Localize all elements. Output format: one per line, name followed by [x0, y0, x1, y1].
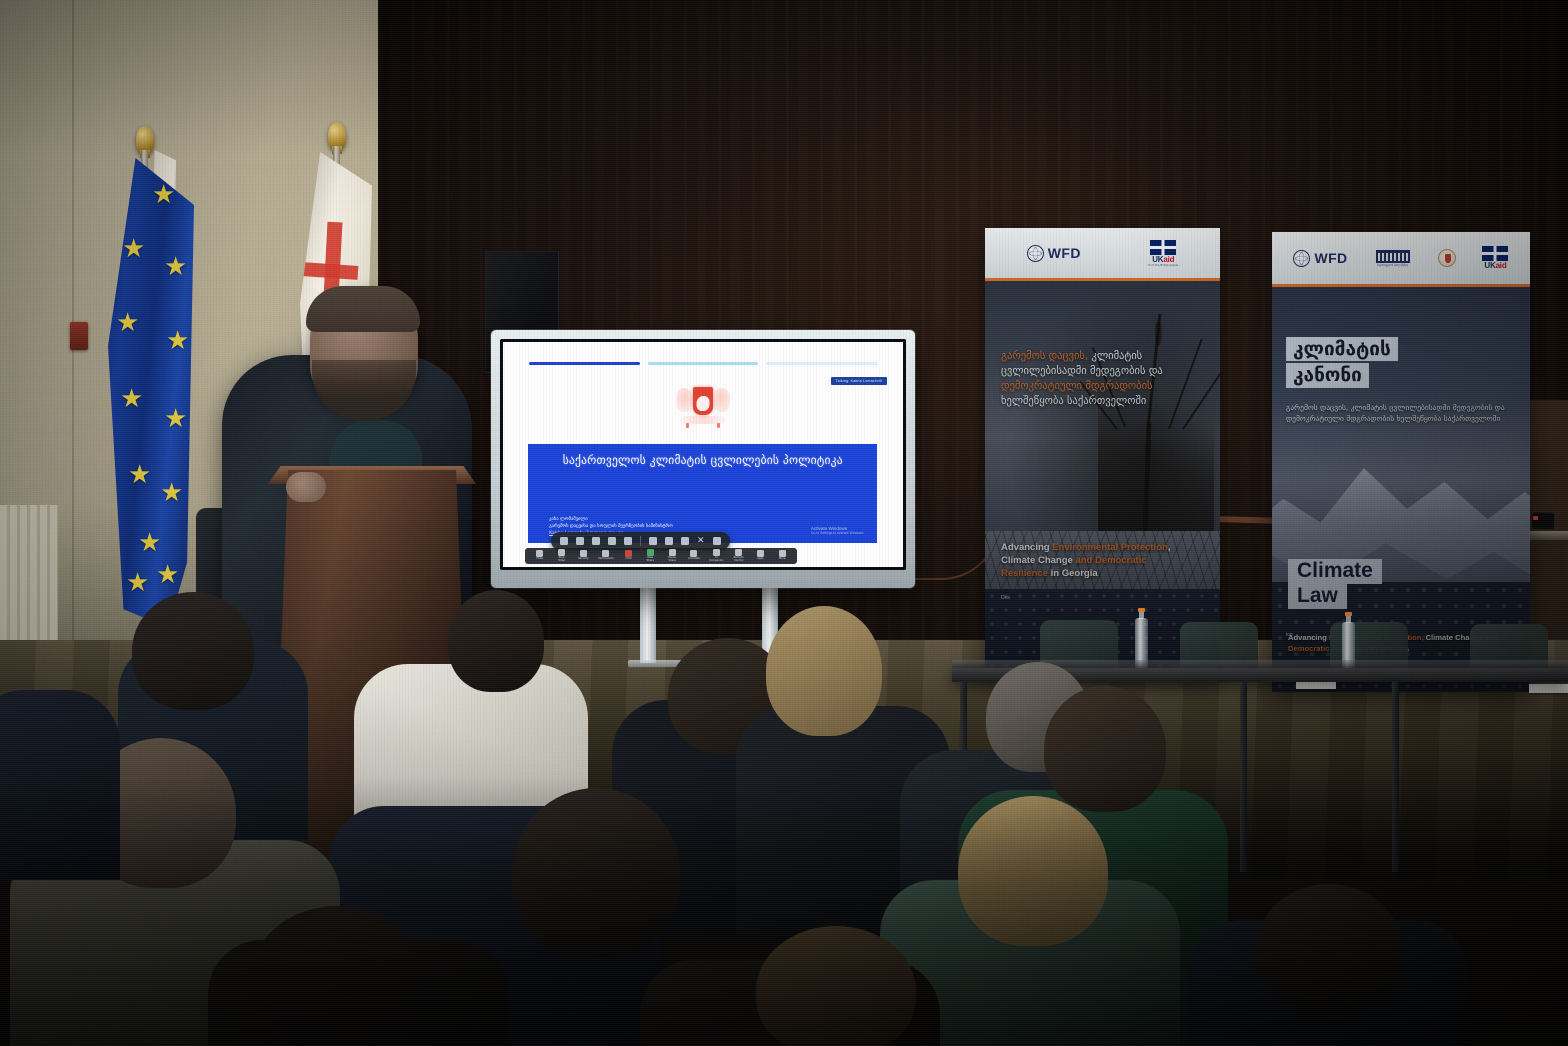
ukaid-wordmark: UKaid	[1148, 255, 1178, 264]
zoom-button-stop-video[interactable]: Stop Video	[555, 549, 569, 563]
coa-supporter-right	[712, 388, 730, 412]
pencil-icon	[690, 550, 697, 557]
presentation-slide: Talking: Kakha Lomashvili საქართველოს კლ…	[503, 342, 903, 567]
shield-icon	[580, 550, 587, 557]
coa-shield	[693, 387, 713, 415]
roll-up-banner-wfd: WFD UKaid from the British people გარემო…	[985, 228, 1220, 673]
display-stand-leg-left	[640, 588, 656, 663]
wfd-wordmark: WFD	[1314, 250, 1347, 266]
audience-head	[252, 906, 422, 1046]
audience-head	[132, 592, 254, 710]
ukaid-logo: UKaid from the British people	[1148, 240, 1178, 267]
progress-segment-3	[766, 362, 877, 365]
banner-headline-ka-part2: კლიმატის	[1092, 350, 1143, 362]
speaker-hand	[286, 472, 326, 502]
flag-georgia-cross-horizontal	[302, 262, 359, 280]
zoom-button-annotate[interactable]: Annotate	[687, 550, 701, 561]
slide-title: საქართველოს კლიმატის ცვლილების პოლიტიკა	[528, 453, 877, 467]
wfd-logo: WFD	[1027, 245, 1081, 262]
banner-footer-text: ion	[1286, 632, 1293, 638]
microphone-icon	[536, 550, 543, 557]
zoom-button-pause-share[interactable]: Pause Share	[665, 549, 679, 563]
slide-title-band: საქართველოს კლიმატის ცვლილების პოლიტიკა …	[528, 444, 877, 543]
audience-head	[512, 788, 680, 958]
coa-saint-george	[697, 396, 710, 411]
audience-head	[1256, 884, 1402, 1014]
zoom-button-chat[interactable]: Chat	[622, 550, 636, 561]
audience-head	[958, 796, 1108, 946]
audience-head	[766, 606, 882, 736]
banner-artwork-drought: გარემოს დაცვის, კლიმატის ცვლილებისადმი მ…	[985, 281, 1220, 673]
banner-headline-ka-part8: საქართველოში	[1067, 395, 1146, 407]
banner-footer-text: Des	[1001, 595, 1010, 601]
ukaid-strapline: from the British people	[1148, 264, 1178, 267]
banner-headline-ka-accent3: მდგრადობის	[1085, 380, 1152, 392]
zoom-button-ai-companion[interactable]: AI Companion	[709, 549, 724, 563]
audience-head	[1044, 686, 1166, 812]
audience-head	[756, 926, 916, 1046]
slide-progress-bars	[529, 362, 877, 365]
fire-alarm-icon	[70, 322, 88, 350]
ukaid-wordmark: UKaid	[1482, 261, 1508, 270]
dead-tree-illustration	[1098, 303, 1214, 553]
activation-line-2: Go to Settings to activate Windows	[811, 531, 864, 535]
zoom-button-participants[interactable]: Participants	[598, 550, 613, 561]
annotate-icon[interactable]	[624, 537, 632, 545]
banner-title-en: Climate Law	[1288, 559, 1382, 609]
wfd-globe-icon	[1027, 245, 1044, 262]
presenter-organisation: გარემოს დაცვისა და სოფლის მეურნეობის სამ…	[549, 523, 673, 530]
bottle-cap	[1138, 608, 1145, 612]
parliament-building-icon	[1376, 250, 1410, 263]
stop-share-icon[interactable]	[576, 537, 584, 545]
name-plate	[1529, 684, 1568, 693]
banner-title-en-line1: Climate	[1288, 559, 1382, 584]
banner-headline-ka-accent1: გარემოს დაცვის,	[1001, 350, 1092, 362]
banner-headline-ka-part3: ცვლილებისადმი მედეგობის	[1001, 365, 1145, 377]
close-icon[interactable]: ✕	[697, 537, 705, 545]
zoom-button-apps[interactable]: Apps	[754, 550, 768, 561]
banner-headline-ka-part4: და	[1149, 365, 1163, 377]
banner-logo-strip: WFD საქართველოს პარლამენტი UKaid	[1272, 232, 1530, 284]
wfd-logo: WFD	[1293, 250, 1347, 267]
banner-logo-strip: WFD UKaid from the British people	[985, 228, 1220, 278]
banner-title-en-line2: Law	[1288, 584, 1347, 609]
windows-activation-watermark: Activate Windows Go to Settings to activ…	[811, 526, 864, 535]
zoom-button-remote-control[interactable]: Remote Control	[732, 549, 746, 563]
banner-title-ka-line2: კანონი	[1286, 363, 1369, 387]
zoom-button-new-share[interactable]: New Share	[644, 549, 658, 563]
participants-icon	[602, 550, 609, 557]
union-jack-icon	[1482, 246, 1508, 261]
coa-ribbon-tail-right	[717, 423, 720, 428]
settings-icon[interactable]	[681, 537, 689, 545]
coa-ribbon-tail-left	[686, 423, 689, 428]
audience-head	[448, 590, 544, 692]
av-equipment	[1532, 512, 1554, 529]
wfd-wordmark: WFD	[1048, 245, 1081, 261]
toolbar-divider	[640, 536, 641, 546]
share-screen-icon[interactable]	[560, 537, 568, 545]
zoom-meeting-toolbar[interactable]: Mute Stop Video Security Participants	[525, 548, 797, 564]
table-leg	[1240, 682, 1247, 872]
zoom-button-more[interactable]: More	[775, 550, 789, 561]
zoom-button-mute[interactable]: Mute	[533, 550, 547, 561]
speaker-hair	[306, 286, 420, 332]
bottle-cap	[1345, 612, 1352, 616]
banner-headline-en: Advancing Environmental Protection, Clim…	[1001, 542, 1184, 581]
zoom-button-security[interactable]: Security	[577, 550, 591, 561]
banner-subtitle-ka: გარემოს დაცვის, კლიმატის ცვლილებისადმი მ…	[1286, 403, 1518, 425]
banner-title-ka: კლიმატის კანონი	[1286, 337, 1398, 390]
government-emblem-icon	[1438, 249, 1456, 267]
progress-segment-2	[648, 362, 759, 365]
undo-icon[interactable]	[592, 537, 600, 545]
banner-headline-ka: გარემოს დაცვის, კლიმატის ცვლილებისადმი მ…	[1001, 349, 1206, 409]
camera-icon	[558, 549, 565, 556]
status-led-icon	[1533, 516, 1538, 520]
presenter-name: კახა ლომაშვილი	[549, 516, 673, 523]
pause-icon	[669, 549, 676, 556]
sparkle-icon	[713, 549, 720, 556]
audience-member	[0, 690, 120, 880]
save-icon[interactable]	[665, 537, 673, 545]
display-bezel: Talking: Kakha Lomashvili საქართველოს კლ…	[500, 339, 906, 570]
union-jack-icon	[1150, 240, 1176, 255]
zoom-talking-indicator: Talking: Kakha Lomashvili	[831, 377, 887, 385]
new-share-icon[interactable]	[649, 537, 657, 545]
presentation-display[interactable]: Talking: Kakha Lomashvili საქართველოს კლ…	[491, 330, 915, 588]
share-icon	[647, 549, 654, 556]
georgia-coat-of-arms-icon	[672, 383, 734, 435]
remote-icon	[735, 549, 742, 556]
parliament-caption: საქართველოს პარლამენტი	[1375, 264, 1411, 267]
parliament-of-georgia-logo: საქართველოს პარლამენტი	[1375, 250, 1411, 267]
banner-headline-ka-part7: ხელშეწყობა	[1001, 395, 1064, 407]
banner-headline-ka-accent2: დემოკრატიული	[1001, 380, 1082, 392]
conference-hall-scene: ★ ★ ★ ★ ★ ★ ★ ★ ★ ★ ★ ★	[0, 0, 1568, 1046]
wfd-globe-icon	[1293, 250, 1310, 267]
apps-icon	[757, 550, 764, 557]
table-leg	[1392, 682, 1399, 872]
coa-supporter-left	[676, 388, 694, 412]
more-icon[interactable]	[713, 537, 721, 545]
ukaid-logo: UKaid	[1482, 246, 1508, 270]
banner-title-ka-line1: კლიმატის	[1286, 337, 1398, 361]
redo-icon[interactable]	[608, 537, 616, 545]
ellipsis-icon	[779, 550, 786, 557]
progress-segment-1	[529, 362, 640, 365]
chat-icon	[625, 550, 632, 557]
